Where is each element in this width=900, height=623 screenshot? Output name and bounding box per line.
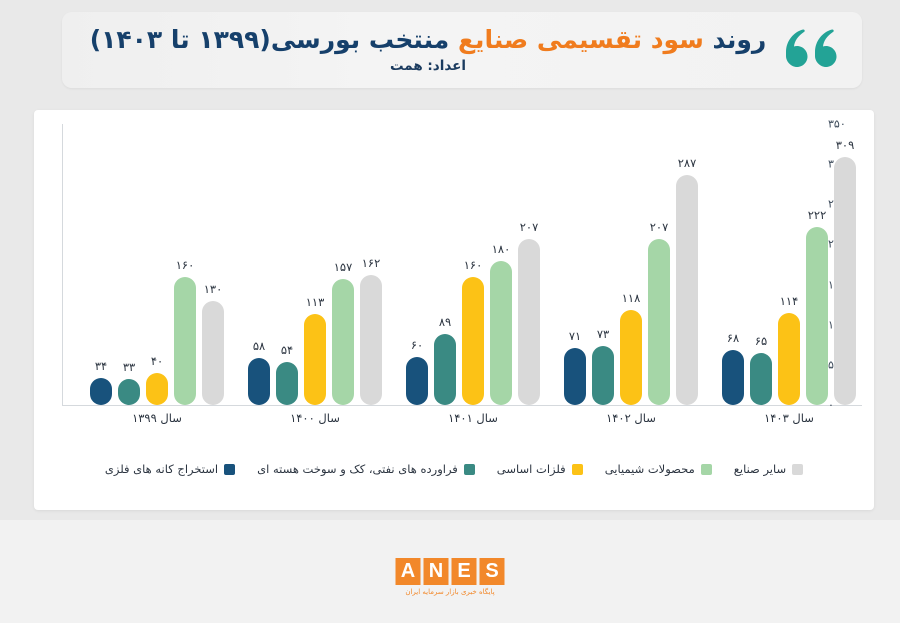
sena-logo-letters: SENA xyxy=(396,558,505,585)
title-part-1: روند xyxy=(713,25,767,54)
bar-value-label: ۲۸۷ xyxy=(678,156,697,170)
title-part-4: منتخب بورسی(۱۳۹۹ تا ۱۴۰۳) xyxy=(90,25,450,54)
bar-slot: ۵۸ xyxy=(248,358,270,405)
bar-slot: ۷۱ xyxy=(564,348,586,405)
x-axis-category-label: سال ۱۴۰۱ xyxy=(398,411,548,425)
x-axis-line xyxy=(62,405,862,406)
bar-value-label: ۳۳ xyxy=(123,360,135,374)
legend-label: فراورده های نفتی، کک و سوخت هسته ای xyxy=(257,462,458,476)
x-axis-category-label: سال ۱۴۰۲ xyxy=(556,411,706,425)
legend-label: فلزات اساسی xyxy=(497,462,566,476)
bar-slot: ۷۳ xyxy=(592,346,614,405)
infographic-page: روند سود تقسیمی صنایع منتخب بورسی(۱۳۹۹ ت… xyxy=(0,0,900,623)
bar-slot: ۳۴ xyxy=(90,378,112,405)
bar[interactable] xyxy=(620,310,642,405)
bar[interactable] xyxy=(406,357,428,405)
bar-slot: ۳۰۹ xyxy=(834,157,856,405)
bar-group-bars: ۷۱۷۳۱۱۸۲۰۷۲۸۷ xyxy=(556,124,706,405)
bar-value-label: ۷۳ xyxy=(597,327,609,341)
bar-value-label: ۶۸ xyxy=(727,331,739,345)
bar-slot: ۱۶۲ xyxy=(360,275,382,405)
bar-group-bars: ۶۸۶۵۱۱۴۲۲۲۳۰۹ xyxy=(714,124,864,405)
bar-value-label: ۱۶۰ xyxy=(176,258,195,272)
bar-value-label: ۱۱۳ xyxy=(306,295,325,309)
bar[interactable] xyxy=(490,261,512,406)
bar-slot: ۴۰ xyxy=(146,373,168,405)
legend-item[interactable]: فلزات اساسی xyxy=(497,462,583,476)
bar-value-label: ۴۰ xyxy=(151,354,163,368)
page-title: روند سود تقسیمی صنایع منتخب بورسی(۱۳۹۹ ت… xyxy=(86,26,770,74)
bar-group: ۵۸۵۴۱۱۳۱۵۷۱۶۲سال ۱۴۰۰ xyxy=(240,124,390,405)
bar-slot: ۲۲۲ xyxy=(806,227,828,405)
bar[interactable] xyxy=(146,373,168,405)
bar[interactable] xyxy=(592,346,614,405)
legend-item[interactable]: استخراج کانه های فلزی xyxy=(105,462,235,476)
sena-logo-letter: S xyxy=(480,558,505,585)
bar-group: ۷۱۷۳۱۱۸۲۰۷۲۸۷سال ۱۴۰۲ xyxy=(556,124,706,405)
bar-value-label: ۲۲۲ xyxy=(808,208,827,222)
bar[interactable] xyxy=(834,157,856,405)
bar[interactable] xyxy=(332,279,354,405)
bar[interactable] xyxy=(648,239,670,405)
legend-item[interactable]: محصولات شیمیایی xyxy=(605,462,712,476)
bar[interactable] xyxy=(564,348,586,405)
bar-value-label: ۵۴ xyxy=(281,343,293,357)
bar[interactable] xyxy=(778,313,800,405)
header-band: روند سود تقسیمی صنایع منتخب بورسی(۱۳۹۹ ت… xyxy=(62,12,862,88)
bar[interactable] xyxy=(360,275,382,405)
y-axis-line xyxy=(62,124,63,405)
bar[interactable] xyxy=(722,350,744,405)
bar-group: ۳۴۳۳۴۰۱۶۰۱۳۰سال ۱۳۹۹ xyxy=(82,124,232,405)
bar-slot: ۶۵ xyxy=(750,353,772,405)
bar[interactable] xyxy=(90,378,112,405)
bar-slot: ۱۱۸ xyxy=(620,310,642,405)
legend-item[interactable]: فراورده های نفتی، کک و سوخت هسته ای xyxy=(257,462,475,476)
bar-value-label: ۳۰۹ xyxy=(836,138,855,152)
bar-value-label: ۱۶۰ xyxy=(464,258,483,272)
bar-slot: ۸۹ xyxy=(434,334,456,405)
quotation-mark-icon xyxy=(782,28,840,70)
bar-slot: ۲۸۷ xyxy=(676,175,698,405)
bar-value-label: ۲۰۷ xyxy=(650,220,669,234)
bar-slot: ۳۳ xyxy=(118,379,140,405)
bar-slot: ۱۵۷ xyxy=(332,279,354,405)
page-subtitle: اعداد: همت xyxy=(86,58,770,74)
x-axis-category-label: سال ۱۳۹۹ xyxy=(82,411,232,425)
bar-value-label: ۳۴ xyxy=(95,359,107,373)
bar[interactable] xyxy=(276,362,298,405)
bar[interactable] xyxy=(434,334,456,405)
bar-value-label: ۷۱ xyxy=(569,329,581,343)
bar[interactable] xyxy=(304,314,326,405)
grouped-bar-chart: ۰۵۰۱۰۰۱۵۰۲۰۰۲۵۰۳۰۰۳۵۰ ۳۴۳۳۴۰۱۶۰۱۳۰سال ۱۳… xyxy=(34,110,874,510)
legend-color-swatch xyxy=(701,464,712,475)
bar-group-bars: ۶۰۸۹۱۶۰۱۸۰۲۰۷ xyxy=(398,124,548,405)
bar-slot: ۱۸۰ xyxy=(490,261,512,406)
x-axis-category-label: سال ۱۴۰۳ xyxy=(714,411,864,425)
bar-slot: ۱۱۳ xyxy=(304,314,326,405)
sena-logo-letter: E xyxy=(452,558,477,585)
bar-value-label: ۱۶۲ xyxy=(362,256,381,270)
sena-logo: SENA پایگاه خبری بازار سرمایه ایران xyxy=(396,558,505,596)
footer: SENA پایگاه خبری بازار سرمایه ایران xyxy=(0,520,900,623)
legend-color-swatch xyxy=(224,464,235,475)
legend-label: محصولات شیمیایی xyxy=(605,462,695,476)
title-part-3: صنایع xyxy=(458,25,528,54)
bar-slot: ۲۰۷ xyxy=(518,239,540,405)
bar[interactable] xyxy=(806,227,828,405)
bar-slot: ۶۸ xyxy=(722,350,744,405)
chart-card: ۰۵۰۱۰۰۱۵۰۲۰۰۲۵۰۳۰۰۳۵۰ ۳۴۳۳۴۰۱۶۰۱۳۰سال ۱۳… xyxy=(34,110,874,510)
legend-color-swatch xyxy=(572,464,583,475)
bar-value-label: ۱۱۸ xyxy=(622,291,641,305)
chart-legend: استخراج کانه های فلزیفراورده های نفتی، ک… xyxy=(34,462,874,476)
bar-value-label: ۱۱۴ xyxy=(780,294,799,308)
bar-group-bars: ۳۴۳۳۴۰۱۶۰۱۳۰ xyxy=(82,124,232,405)
bar-value-label: ۶۵ xyxy=(755,334,767,348)
legend-color-swatch xyxy=(792,464,803,475)
bar-value-label: ۱۳۰ xyxy=(204,282,223,296)
bar[interactable] xyxy=(174,277,196,405)
bar[interactable] xyxy=(202,301,224,405)
bar-group: ۶۰۸۹۱۶۰۱۸۰۲۰۷سال ۱۴۰۱ xyxy=(398,124,548,405)
bar[interactable] xyxy=(118,379,140,405)
bar-slot: ۲۰۷ xyxy=(648,239,670,405)
bar[interactable] xyxy=(518,239,540,405)
sena-logo-letter: N xyxy=(424,558,449,585)
sena-logo-subtitle: پایگاه خبری بازار سرمایه ایران xyxy=(396,588,505,596)
bar-value-label: ۵۸ xyxy=(253,339,265,353)
legend-color-swatch xyxy=(464,464,475,475)
bar-value-label: ۱۵۷ xyxy=(334,260,353,274)
bar-group: ۶۸۶۵۱۱۴۲۲۲۳۰۹سال ۱۴۰۳ xyxy=(714,124,864,405)
bar-slot: ۱۶۰ xyxy=(462,277,484,405)
bar-value-label: ۶۰ xyxy=(411,338,423,352)
bar-slot: ۱۱۴ xyxy=(778,313,800,405)
bar-value-label: ۲۰۷ xyxy=(520,220,539,234)
bar[interactable] xyxy=(462,277,484,405)
bar-slot: ۱۶۰ xyxy=(174,277,196,405)
legend-item[interactable]: سایر صنایع xyxy=(734,462,803,476)
bar-group-bars: ۵۸۵۴۱۱۳۱۵۷۱۶۲ xyxy=(240,124,390,405)
sena-logo-letter: A xyxy=(396,558,421,585)
bar-slot: ۱۳۰ xyxy=(202,301,224,405)
bar[interactable] xyxy=(676,175,698,405)
bar[interactable] xyxy=(750,353,772,405)
title-part-2: سود تقسیمی xyxy=(537,25,704,54)
legend-label: استخراج کانه های فلزی xyxy=(105,462,218,476)
bar-value-label: ۸۹ xyxy=(439,315,451,329)
bar[interactable] xyxy=(248,358,270,405)
bar-value-label: ۱۸۰ xyxy=(492,242,511,256)
x-axis-category-label: سال ۱۴۰۰ xyxy=(240,411,390,425)
bar-slot: ۵۴ xyxy=(276,362,298,405)
bar-slot: ۶۰ xyxy=(406,357,428,405)
legend-label: سایر صنایع xyxy=(734,462,786,476)
